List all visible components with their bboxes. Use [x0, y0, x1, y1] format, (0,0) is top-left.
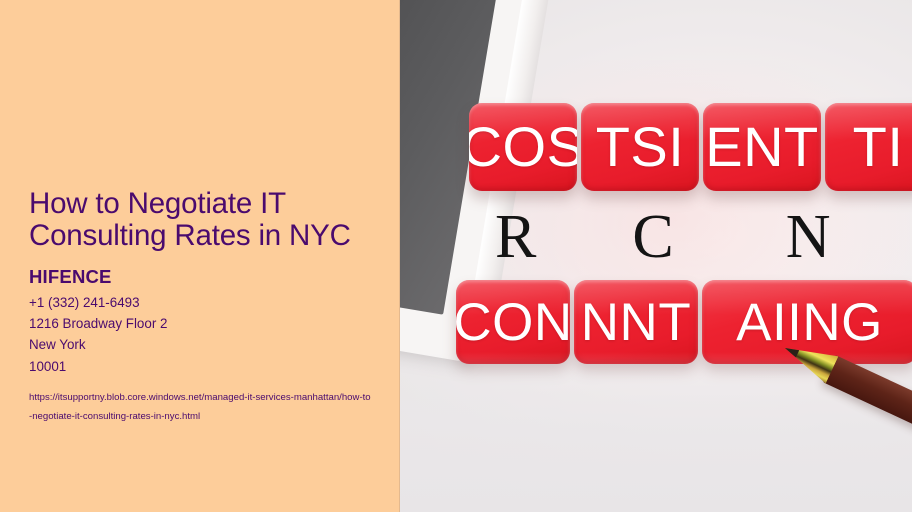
- top-tile-row: COS TSI ENT TI: [469, 103, 912, 191]
- tile-label: ENT: [705, 119, 819, 175]
- middle-letter: C: [632, 206, 673, 268]
- brand-name: HIFENCE: [29, 266, 395, 287]
- page-title: How to Negotiate IT Consulting Rates in …: [29, 188, 395, 253]
- text-stack: How to Negotiate IT Consulting Rates in …: [29, 188, 395, 427]
- tile-label: TI: [853, 119, 904, 175]
- tile-label: NNT: [581, 296, 691, 349]
- tile-label: AIING: [736, 296, 883, 349]
- desk-surface: [400, 352, 912, 512]
- tile-block: CON: [456, 280, 570, 364]
- contact-city: New York: [29, 334, 395, 355]
- slide-canvas: How to Negotiate IT Consulting Rates in …: [0, 0, 912, 512]
- tile-block: AIING: [702, 280, 912, 364]
- contact-zip: 10001: [29, 356, 395, 377]
- middle-letter-row: R C N I: [495, 206, 912, 268]
- contact-phone: +1 (332) 241-6493: [29, 292, 395, 313]
- left-text-panel: How to Negotiate IT Consulting Rates in …: [0, 0, 400, 512]
- tile-label: TSI: [596, 119, 685, 175]
- tile-label: COS: [469, 119, 577, 175]
- tile-block: TSI: [581, 103, 699, 191]
- article-url[interactable]: https://itsupportny.blob.core.windows.ne…: [29, 388, 373, 427]
- tile-label: CON: [456, 296, 570, 349]
- middle-letter: N: [786, 206, 831, 268]
- tile-block: ENT: [703, 103, 821, 191]
- tile-block: COS: [469, 103, 577, 191]
- bottom-tile-row: CON NNT AIING: [456, 280, 912, 364]
- tile-block: TI: [825, 103, 912, 191]
- contact-address-line1: 1216 Broadway Floor 2: [29, 313, 395, 334]
- hero-photo: R C N I COS TSI ENT TI CON: [400, 0, 912, 512]
- tile-block: NNT: [574, 280, 698, 364]
- pencil-body: [822, 355, 912, 450]
